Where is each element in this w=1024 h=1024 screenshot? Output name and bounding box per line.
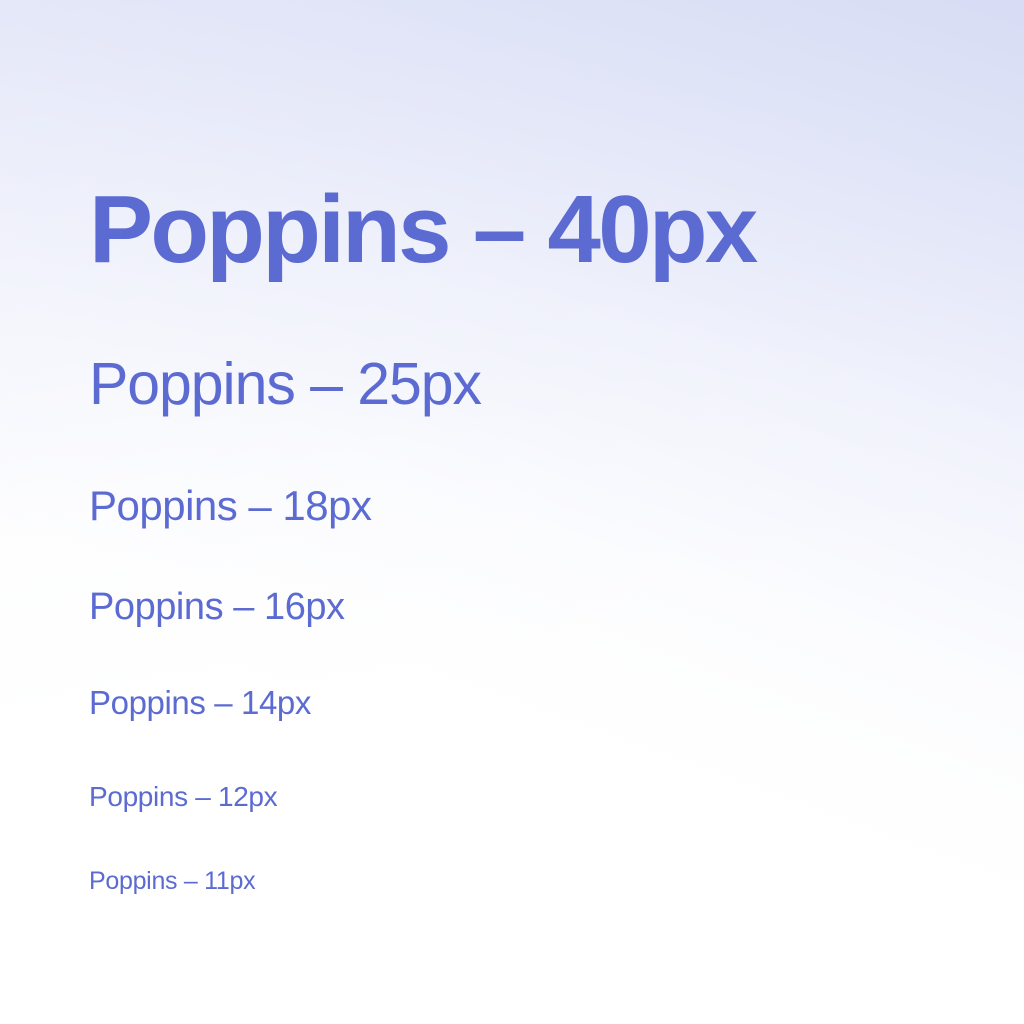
type-scale-row-18px: Poppins – 18px xyxy=(89,485,372,527)
type-scale-specimen: Poppins – 40px Poppins – 25px Poppins – … xyxy=(0,0,1024,1024)
type-sample-16px: Poppins – 16px xyxy=(89,588,345,626)
type-scale-row-11px: Poppins – 11px xyxy=(89,869,255,894)
type-scale-list: Poppins – 40px Poppins – 25px Poppins – … xyxy=(89,0,1024,1024)
type-sample-14px: Poppins – 14px xyxy=(89,686,311,719)
type-scale-row-14px: Poppins – 14px xyxy=(89,686,311,719)
type-scale-row-16px: Poppins – 16px xyxy=(89,588,345,626)
type-scale-row-25px: Poppins – 25px xyxy=(89,355,481,414)
type-sample-18px: Poppins – 18px xyxy=(89,485,372,527)
type-sample-25px: Poppins – 25px xyxy=(89,355,481,414)
type-scale-row-40px: Poppins – 40px xyxy=(89,182,756,278)
type-sample-11px: Poppins – 11px xyxy=(89,869,255,894)
type-sample-40px: Poppins – 40px xyxy=(89,182,756,278)
type-sample-12px: Poppins – 12px xyxy=(89,783,277,811)
type-scale-row-12px: Poppins – 12px xyxy=(89,783,277,811)
